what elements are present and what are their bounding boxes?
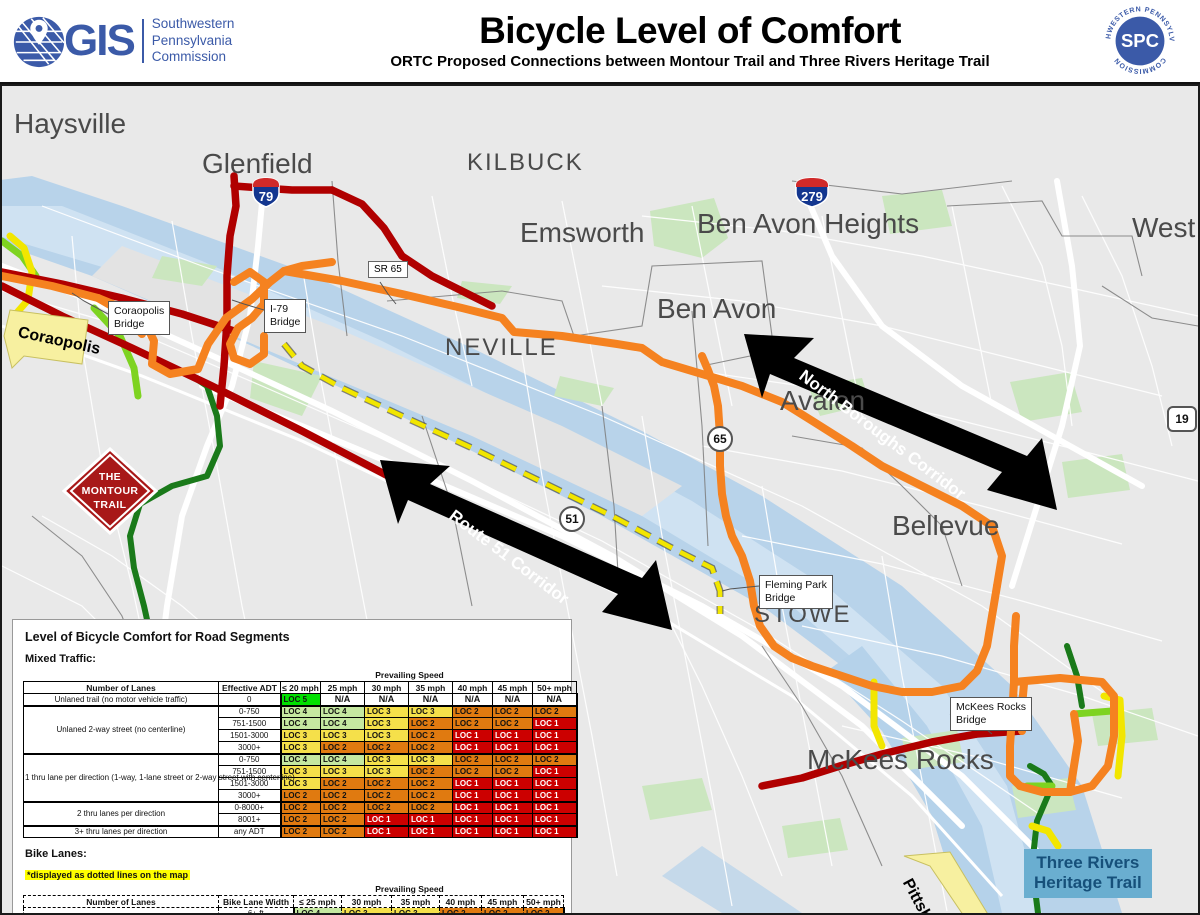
loc-cell: LOC 2 <box>533 706 577 718</box>
col-header-6: 45 mph <box>482 896 524 908</box>
lane-type-cell: Unlaned trail (no motor vehicle traffic) <box>24 694 219 706</box>
col-header-5: 40 mph <box>440 896 482 908</box>
loc-cell: LOC 1 <box>453 826 493 838</box>
loc-cell: LOC 2 <box>533 754 577 766</box>
loc-cell: LOC 2 <box>281 802 321 814</box>
loc-cell: N/A <box>533 694 577 706</box>
loc-cell: LOC 1 <box>533 766 577 778</box>
col-header-7: 45 mph <box>493 682 533 694</box>
adt-cell: any ADT <box>219 826 281 838</box>
loc-cell: LOC 1 <box>493 814 533 826</box>
loc-cell: LOC 3 <box>281 730 321 742</box>
loc-cell: LOC 1 <box>453 802 493 814</box>
loc-cell: N/A <box>493 694 533 706</box>
bike-table-header-row: Number of LanesBike Lane Width≤ 25 mph30… <box>24 896 564 908</box>
loc-cell: LOC 2 <box>493 718 533 730</box>
adt-cell: 0-750 <box>219 706 281 718</box>
loc-cell: LOC 1 <box>493 826 533 838</box>
col-header-1: Bike Lane Width <box>219 896 294 908</box>
loc-cell: LOC 1 <box>533 742 577 754</box>
map-poster: GIS Southwestern Pennsylvania Commission… <box>0 0 1200 915</box>
loc-cell: LOC 1 <box>533 790 577 802</box>
loc-cell: LOC 3 <box>365 754 409 766</box>
loc-cell: LOC 4 <box>321 706 365 718</box>
legend-mixed-traffic-label: Mixed Traffic: <box>25 653 561 665</box>
loc-cell: LOC 1 <box>533 718 577 730</box>
loc-cell: LOC 2 <box>281 814 321 826</box>
callout-mckees-rocks-bridge: McKees Rocks Bridge <box>950 697 1032 731</box>
loc-cell: LOC 1 <box>365 826 409 838</box>
loc-cell: LOC 2 <box>321 802 365 814</box>
svg-text:SPC: SPC <box>1121 30 1159 51</box>
gis-globe-icon <box>10 12 68 70</box>
legend-bike-note: *displayed as dotted lines on the map <box>25 870 190 880</box>
loc-cell: N/A <box>321 694 365 706</box>
lane-type-cell: 1 thru lane per direction, or unlaned <box>24 908 219 914</box>
loc-cell: LOC 2 <box>453 718 493 730</box>
logo-divider <box>142 19 144 63</box>
loc-cell: LOC 3 <box>392 908 440 914</box>
loc-cell: LOC 1 <box>365 814 409 826</box>
bike-prevailing-speed-header: Prevailing Speed <box>258 884 561 894</box>
brand-line-1: Southwestern <box>152 16 235 33</box>
legend-title: Level of Bicycle Comfort for Road Segmen… <box>25 630 561 644</box>
loc-cell: LOC 2 <box>409 742 453 754</box>
loc-cell: LOC 1 <box>493 742 533 754</box>
loc-cell: LOC 3 <box>342 908 392 914</box>
page-subtitle: ORTC Proposed Connections between Montou… <box>300 53 1080 70</box>
table-row: 2 thru lanes per direction0-8000+LOC 2LO… <box>24 802 577 814</box>
loc-cell: LOC 2 <box>365 790 409 802</box>
loc-cell: LOC 2 <box>321 826 365 838</box>
loc-cell: LOC 1 <box>533 730 577 742</box>
loc-cell: LOC 1 <box>453 742 493 754</box>
mixed-prevailing-speed-header: Prevailing Speed <box>258 670 561 680</box>
interstate-shield-279: 279 <box>794 176 830 208</box>
adt-cell: 0-8000+ <box>219 802 281 814</box>
loc-cell: LOC 2 <box>321 742 365 754</box>
loc-cell: LOC 2 <box>321 778 365 790</box>
spc-logo: SOUTHWESTERN PENNSYLVANIA COMMISSION SPC <box>1080 4 1200 78</box>
loc-cell: LOC 3 <box>409 754 453 766</box>
loc-cell: LOC 2 <box>365 778 409 790</box>
loc-cell: LOC 2 <box>409 730 453 742</box>
loc-cell: LOC 2 <box>453 766 493 778</box>
loc-cell: LOC 4 <box>321 718 365 730</box>
loc-cell: LOC 2 <box>453 754 493 766</box>
trt-line-2: Heritage Trail <box>1034 873 1142 893</box>
width-cell: 6+ ft <box>219 908 294 914</box>
loc-cell: LOC 2 <box>493 706 533 718</box>
table-row: 3+ thru lanes per directionany ADTLOC 2L… <box>24 826 577 838</box>
map-canvas[interactable]: THE MONTOUR TRAIL Haysville Glenfield KI… <box>2 86 1198 913</box>
col-header-3: 30 mph <box>342 896 392 908</box>
loc-cell: LOC 1 <box>493 802 533 814</box>
adt-cell: 751-1500 <box>219 718 281 730</box>
col-header-2: ≤ 20 mph <box>281 682 321 694</box>
loc-cell: LOC 1 <box>409 814 453 826</box>
loc-cell: LOC 4 <box>281 706 321 718</box>
loc-cell: LOC 2 <box>493 766 533 778</box>
col-header-0: Number of Lanes <box>24 896 219 908</box>
callout-i79-bridge: I-79 Bridge <box>264 299 306 333</box>
loc-cell: N/A <box>409 694 453 706</box>
loc-cell: LOC 3 <box>321 766 365 778</box>
page-title: Bicycle Level of Comfort <box>300 12 1080 51</box>
montour-line-2: MONTOUR <box>82 484 139 498</box>
mixed-table-body: Unlaned trail (no motor vehicle traffic)… <box>24 694 577 838</box>
table-row: 1 thru lane per direction, or unlaned6+ … <box>24 908 564 914</box>
loc-cell: N/A <box>453 694 493 706</box>
col-header-5: 35 mph <box>409 682 453 694</box>
col-header-3: 25 mph <box>321 682 365 694</box>
loc-cell: LOC 3 <box>321 730 365 742</box>
col-header-4: 30 mph <box>365 682 409 694</box>
three-rivers-heritage-trail-badge: Three Rivers Heritage Trail <box>1024 849 1152 898</box>
col-header-4: 35 mph <box>392 896 440 908</box>
gis-wordmark: GIS <box>64 19 134 63</box>
table-row: Unlaned trail (no motor vehicle traffic)… <box>24 694 577 706</box>
brand-line-3: Commission <box>152 49 235 66</box>
col-header-6: 40 mph <box>453 682 493 694</box>
adt-cell: 3000+ <box>219 790 281 802</box>
legend-bike-lanes-label: Bike Lanes: <box>25 848 561 860</box>
loc-cell: LOC 1 <box>453 814 493 826</box>
adt-cell: 0 <box>219 694 281 706</box>
lane-type-cell: Unlaned 2-way street (no centerline) <box>24 706 219 754</box>
bike-table-body: 1 thru lane per direction, or unlaned6+ … <box>24 908 564 914</box>
loc-cell: LOC 1 <box>533 778 577 790</box>
loc-cell: LOC 2 <box>409 718 453 730</box>
route-shield-65: 65 <box>707 426 733 452</box>
col-header-2: ≤ 25 mph <box>294 896 342 908</box>
col-header-1: Effective ADT <box>219 682 281 694</box>
legend-panel: Level of Bicycle Comfort for Road Segmen… <box>12 619 572 913</box>
table-row: Unlaned 2-way street (no centerline)0-75… <box>24 706 577 718</box>
route-shield-51: 51 <box>559 506 585 532</box>
loc-cell: LOC 4 <box>294 908 342 914</box>
loc-cell: LOC 3 <box>365 730 409 742</box>
interstate-shield-79: 79 <box>251 176 281 208</box>
montour-line-1: THE <box>99 470 121 484</box>
loc-cell: LOC 1 <box>493 790 533 802</box>
loc-cell: LOC 2 <box>365 802 409 814</box>
loc-cell: LOC 2 <box>409 790 453 802</box>
adt-cell: 8001+ <box>219 814 281 826</box>
loc-cell: LOC 2 <box>453 706 493 718</box>
loc-cell: N/A <box>365 694 409 706</box>
trt-line-1: Three Rivers <box>1034 853 1142 873</box>
shield-label-279: 279 <box>801 189 823 204</box>
col-header-7: 50+ mph <box>524 896 564 908</box>
adt-cell: 3000+ <box>219 742 281 754</box>
interstate-shield-icon: 279 <box>794 176 830 208</box>
loc-cell: LOC 3 <box>281 766 321 778</box>
loc-cell: LOC 3 <box>365 766 409 778</box>
loc-cell: LOC 2 <box>440 908 482 914</box>
mixed-table-header-row: Number of LanesEffective ADT≤ 20 mph25 m… <box>24 682 577 694</box>
loc-cell: LOC 1 <box>453 778 493 790</box>
adt-cell: 0-750 <box>219 754 281 766</box>
route-shield-sr65: SR 65 <box>368 261 408 278</box>
loc-cell: LOC 1 <box>533 814 577 826</box>
loc-cell: LOC 3 <box>409 706 453 718</box>
loc-cell: LOC 4 <box>281 754 321 766</box>
col-header-0: Number of Lanes <box>24 682 219 694</box>
loc-cell: LOC 2 <box>365 742 409 754</box>
lane-type-cell: 3+ thru lanes per direction <box>24 826 219 838</box>
spc-seal-icon: SOUTHWESTERN PENNSYLVANIA COMMISSION SPC <box>1103 4 1177 78</box>
title-block: Bicycle Level of Comfort ORTC Proposed C… <box>300 12 1080 70</box>
loc-cell: LOC 2 <box>524 908 564 914</box>
table-row: 1 thru lane per direction (1-way, 1-lane… <box>24 754 577 766</box>
adt-cell: 1501-3000 <box>219 730 281 742</box>
montour-trail-marker: THE MONTOUR TRAIL <box>60 441 160 541</box>
loc-cell: LOC 4 <box>281 718 321 730</box>
loc-cell: LOC 2 <box>482 908 524 914</box>
loc-cell: LOC 1 <box>533 826 577 838</box>
lane-type-cell: 2 thru lanes per direction <box>24 802 219 826</box>
loc-cell: LOC 2 <box>281 790 321 802</box>
loc-cell: LOC 2 <box>409 766 453 778</box>
mixed-traffic-table: Number of LanesEffective ADT≤ 20 mph25 m… <box>23 681 578 838</box>
gis-logo: GIS Southwestern Pennsylvania Commission <box>0 12 300 70</box>
brand-line-2: Pennsylvania <box>152 33 235 50</box>
loc-cell: LOC 2 <box>281 826 321 838</box>
loc-cell: LOC 2 <box>321 814 365 826</box>
loc-cell: LOC 1 <box>453 790 493 802</box>
poster-header: GIS Southwestern Pennsylvania Commission… <box>0 0 1200 84</box>
loc-cell: LOC 3 <box>281 778 321 790</box>
loc-cell: LOC 3 <box>365 706 409 718</box>
interstate-shield-icon: 79 <box>251 176 281 208</box>
loc-cell: LOC 1 <box>533 802 577 814</box>
loc-cell: LOC 3 <box>365 718 409 730</box>
route-shield-us19: 19 <box>1167 406 1197 432</box>
loc-cell: LOC 2 <box>493 754 533 766</box>
montour-marker-text: THE MONTOUR TRAIL <box>60 441 160 541</box>
shield-label-79: 79 <box>259 189 273 204</box>
loc-cell: LOC 2 <box>409 802 453 814</box>
loc-cell: LOC 1 <box>493 730 533 742</box>
bike-lanes-table: Number of LanesBike Lane Width≤ 25 mph30… <box>23 895 565 913</box>
loc-cell: LOC 1 <box>493 778 533 790</box>
col-header-8: 50+ mph <box>533 682 577 694</box>
loc-cell: LOC 2 <box>409 778 453 790</box>
loc-cell: LOC 2 <box>321 790 365 802</box>
loc-cell: LOC 5 <box>281 694 321 706</box>
lane-type-cell: 1 thru lane per direction (1-way, 1-lane… <box>24 754 219 802</box>
loc-cell: LOC 4 <box>321 754 365 766</box>
montour-line-3: TRAIL <box>94 498 127 512</box>
coraopolis-direction-banner <box>4 310 88 368</box>
callout-fleming-park-bridge: Fleming Park Bridge <box>759 575 833 609</box>
loc-cell: LOC 3 <box>281 742 321 754</box>
loc-cell: LOC 1 <box>409 826 453 838</box>
loc-cell: LOC 1 <box>453 730 493 742</box>
callout-coraopolis-bridge: Coraopolis Bridge <box>108 301 170 335</box>
gis-agency-name: Southwestern Pennsylvania Commission <box>152 16 235 67</box>
